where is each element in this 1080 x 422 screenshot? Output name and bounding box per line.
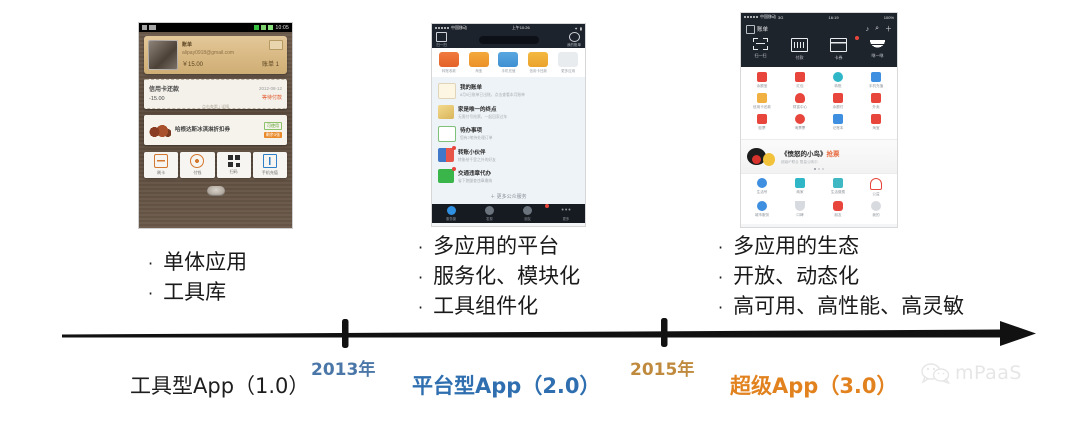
stage-3-caption: 超级App（3.0） — [730, 370, 898, 400]
p2-tab-label-2: 朋友 — [524, 216, 531, 221]
battery-icon — [268, 25, 273, 30]
p2-quick-label-1: 淘宝 — [475, 69, 482, 74]
phone-screenshot-v3: 中国移动 3G 16:19 100% 账单 ♪ ⌕ ＋ 扫一扫 付款 卡券 — [740, 12, 898, 228]
p3-bottom-r1c0[interactable]: 生活号 — [743, 178, 781, 197]
p1-tile-label-2: 扫码 — [230, 169, 238, 175]
p3-app-r3c2[interactable]: 记账本 — [819, 114, 857, 131]
p2-item-text-4: 交通违章代办 省下跑腿查违章缴纳 — [458, 169, 492, 184]
signal-dots-icon — [435, 27, 449, 29]
p3-app-label-r2c0: 信用卡还款 — [753, 105, 771, 110]
p3-banner-subtitle: 超级IP联合 限量公映中 — [781, 160, 840, 165]
p3-app-r2c0[interactable]: 信用卡还款 — [743, 93, 781, 110]
p2-quick-1[interactable]: 淘宝 — [464, 52, 494, 74]
p3-quick-label-1: 付款 — [796, 55, 804, 61]
timeline-axis — [0, 308, 1080, 358]
p1-user-name: 账单 — [182, 41, 283, 48]
p2-quick-3[interactable]: 信用卡还款 — [523, 52, 553, 74]
wechat-bubbles-icon — [920, 362, 950, 384]
p3-bottom-label-r1c3: 公益 — [872, 192, 879, 197]
bill-pay-icon — [833, 178, 843, 188]
credit-card-icon — [528, 52, 548, 67]
p3-bottom-r2c2[interactable]: 朋友 — [819, 201, 857, 218]
p3-banner-dots — [814, 168, 824, 170]
p3-bottom-label-r2c2: 朋友 — [834, 213, 841, 218]
p3-app-r2c2[interactable]: 余额付 — [819, 93, 857, 110]
p1-user-email: alipay0918@gmail.com — [182, 50, 283, 56]
ice-cream-icon — [149, 120, 171, 140]
p1-coupon-title: 哈根达斯冰淇淋折扣券 — [175, 126, 260, 134]
stock-icon — [757, 114, 767, 124]
p3-status-time: 16:19 — [829, 15, 839, 20]
friends-icon — [523, 206, 532, 215]
wealth-icon — [795, 93, 805, 103]
p1-status-left-icons — [142, 25, 156, 30]
p3-nav-bar: 账单 ♪ ⌕ ＋ — [741, 21, 897, 37]
list-item[interactable]: 待办事项 您有2笔待处理订单 — [436, 123, 581, 145]
p3-app-label-r3c0: 股票 — [758, 126, 765, 131]
bill-icon — [569, 32, 580, 42]
p3-quick-2[interactable]: 卡券 — [819, 38, 858, 61]
p1-ticket-amount: -15.00 — [149, 96, 165, 102]
p3-quick-row: 扫一扫 付款 卡券 咻一咻 — [741, 37, 897, 67]
p3-quick-label-2: 卡券 — [835, 55, 843, 61]
p1-ticket-amount-row: -15.00 等待付款 — [149, 93, 282, 102]
p2-item-sub-3: 转账给千里之外的好友 — [458, 158, 496, 163]
p3-quick-0[interactable]: 扫一扫 — [741, 38, 780, 61]
p2-item-title-2: 待办事项 — [460, 126, 493, 134]
p2-tab-label-3: 更多 — [563, 216, 570, 221]
p2-item-sub-0: 8月5日账单已出账，点击查看本月账单 — [460, 93, 525, 98]
bluetooth-icon: ✦ — [574, 26, 577, 31]
charity-heart-icon — [870, 178, 882, 190]
koubei-icon — [795, 201, 805, 211]
bill-thumb-icon — [438, 83, 456, 99]
p3-app-r1c1[interactable]: 红包 — [781, 72, 819, 89]
p1-home-button — [144, 185, 287, 197]
profile-icon — [871, 201, 881, 211]
p1-status-bar: 10:05 — [139, 23, 292, 32]
p1-ticket-action: 等待付款 — [262, 94, 282, 101]
list-item: · 开放、动态化 — [718, 262, 964, 292]
bullet-text: 多应用的平台 — [433, 232, 559, 262]
p3-status-left: 中国移动 3G — [744, 14, 783, 20]
p1-ticket-footer: 点击查看 / 详情 — [149, 104, 282, 110]
timeline-year-label-2013: 2013年 — [311, 355, 375, 380]
p3-promo-banner[interactable]: 《愤怒的小鸟》抢票 超级IP联合 限量公映中 — [741, 139, 897, 174]
p1-status-time: 10:05 — [275, 25, 289, 31]
p2-tab-0[interactable]: 服务窗 — [432, 206, 470, 221]
p2-item-text-3: 转账小伙伴 转账给千里之外的好友 — [458, 148, 496, 163]
p2-carrier: 中国移动 — [451, 25, 467, 31]
p3-app-r1c3[interactable]: 手机充值 — [857, 72, 895, 89]
timeline-tick-2013 — [342, 319, 349, 348]
city-service-icon — [757, 201, 767, 211]
battery-icon: ▮ — [580, 26, 582, 31]
p3-bottom-r1c1[interactable]: 商家 — [781, 178, 819, 197]
p3-network: 3G — [778, 15, 783, 20]
list-item: · 单体应用 — [148, 248, 247, 278]
bullet-marker: · — [148, 256, 153, 272]
timeline-arrowhead — [1000, 321, 1036, 346]
movie-ticket-icon — [795, 114, 805, 124]
p2-quick-4[interactable]: 更多应用 — [553, 52, 583, 74]
p2-tab-label-1: 发现 — [486, 216, 493, 221]
p3-quick-1[interactable]: 付款 — [780, 38, 819, 61]
p3-grid-row-1: 余额宝 红包 转账 手机充值 — [743, 72, 895, 89]
p3-app-r2c1[interactable]: 财富中心 — [781, 93, 819, 110]
p2-nav-right-label: 我的账单 — [567, 43, 581, 48]
badge-dot — [452, 146, 456, 150]
stage-1-bullets: · 单体应用 · 工具库 — [148, 248, 247, 308]
p2-item-title-1: 家是唯一的终点 — [458, 105, 507, 113]
p2-quick-label-3: 信用卡还款 — [530, 69, 548, 74]
p3-banner-title: 《愤怒的小鸟》抢票 — [781, 148, 840, 158]
avatar — [148, 40, 178, 70]
p2-item-title-0: 我的账单 — [460, 83, 525, 91]
p2-tab-bar: 服务窗 发现 朋友 ••• 更多 — [432, 204, 585, 223]
p2-quick-2[interactable]: 手机充值 — [494, 52, 524, 74]
envelope-icon — [269, 40, 283, 50]
p3-grid-row-3: 股票 淘票票 记账本 淘宝 — [743, 114, 895, 131]
wifi-icon — [254, 25, 259, 30]
list-item: · 工具库 — [148, 278, 247, 308]
bullet-marker: · — [418, 240, 423, 256]
transfer-icon — [833, 72, 843, 82]
bullet-marker: · — [148, 286, 153, 302]
bullet-text: 工具库 — [163, 278, 226, 308]
p3-app-label-r3c3: 淘宝 — [872, 126, 879, 131]
p2-quick-row: 转账收款 淘宝 手机充值 信用卡还款 更多应用 — [432, 48, 585, 77]
yuebao-icon — [757, 72, 767, 82]
p2-status-bar: 中国移动 上午10:26 ✦ ▮ — [432, 24, 585, 32]
p1-bill-ticket: 信用卡还款 2012-08-12 -15.00 等待付款 点击查看 / 详情 — [144, 79, 287, 109]
merchant-icon — [795, 178, 805, 188]
p1-ticket-date: 2012-08-12 — [259, 86, 282, 91]
p2-nav-scan[interactable]: 扫一扫 — [436, 32, 447, 48]
taobao-icon — [469, 52, 489, 67]
list-item[interactable]: 转账小伙伴 转账给千里之外的好友 — [436, 145, 581, 166]
p3-app-label-r1c2: 转账 — [834, 84, 841, 89]
stage-2-caption: 平台型App（2.0） — [412, 370, 601, 400]
red-packet-icon — [795, 72, 805, 82]
bullet-text: 服务化、模块化 — [433, 262, 580, 292]
p2-service-list: 我的账单 8月5日账单已出账，点击查看本月账单 家是唯一的终点 无需付号抢票，一… — [432, 77, 585, 190]
shake-icon — [870, 38, 885, 50]
timeline-year-label-2015: 2015年 — [630, 355, 694, 380]
grid-more-icon — [558, 52, 578, 67]
p3-nav-actions: ♪ ⌕ ＋ — [866, 24, 892, 34]
p3-bottom-r1c3[interactable]: 公益 — [857, 178, 895, 197]
timeline-tick-2015 — [661, 318, 668, 347]
coupon-card-icon — [830, 38, 847, 52]
p3-bottom-r2c1[interactable]: 口碑 — [781, 201, 819, 218]
p3-app-label-r1c1: 红包 — [796, 84, 803, 89]
p3-bottom-row-2: 城市服务 口碑 朋友 我的 — [743, 201, 895, 218]
p2-tab-label-0: 服务窗 — [446, 216, 456, 221]
p2-nav-bill[interactable]: 我的账单 — [567, 32, 581, 48]
p1-tile-1: 付钱 — [180, 152, 214, 178]
p3-status-battery: 100% — [884, 15, 894, 20]
more-dots-icon: ••• — [561, 206, 570, 215]
p2-nav-left-label: 扫一扫 — [436, 43, 447, 48]
badge-dot — [452, 167, 456, 171]
p2-nav-bar: 扫一扫 我的账单 — [432, 32, 585, 48]
p1-account-text: 账单 alipay0918@gmail.com ￥15.00 账单 1 — [182, 40, 283, 70]
p3-app-label-r3c2: 记账本 — [833, 126, 844, 131]
p1-count: 账单 1 — [262, 59, 279, 68]
signal-dots-icon — [744, 16, 758, 18]
p3-bottom-row-1: 生活号 商家 生活缴费 公益 — [743, 178, 895, 197]
phone-screenshot-v2: 中国移动 上午10:26 ✦ ▮ 扫一扫 我的账单 转账收款 淘宝 手机充值 — [431, 23, 586, 227]
p1-tile-label-1: 付钱 — [193, 170, 201, 176]
service-window-icon — [447, 206, 456, 215]
credit-card-icon — [757, 93, 767, 103]
traffic-thumb-icon — [438, 169, 454, 183]
list-item[interactable]: 交通违章代办 省下跑腿查违章缴纳 — [436, 166, 581, 187]
p2-quick-0[interactable]: 转账收款 — [434, 52, 464, 74]
p3-app-r1c2[interactable]: 转账 — [819, 72, 857, 89]
p2-status-left: 中国移动 — [435, 25, 467, 31]
p1-coupon-available-badge: 可使用 — [264, 122, 282, 130]
p1-tile-label-0: 刷卡 — [157, 170, 165, 176]
bullet-marker: · — [718, 270, 723, 286]
plus-icon[interactable]: ＋ — [885, 24, 892, 34]
p2-tab-2[interactable]: 朋友 — [509, 206, 547, 221]
timeline-line — [62, 330, 1000, 338]
p3-quick-label-0: 扫一扫 — [755, 53, 767, 59]
pay-icon — [190, 154, 204, 168]
p3-quick-3[interactable]: 咻一咻 — [858, 38, 897, 61]
p2-status-time: 上午10:26 — [512, 25, 530, 31]
list-item: · 多应用的生态 — [718, 232, 964, 262]
friends-icon — [833, 201, 843, 211]
taobao-icon — [871, 114, 881, 124]
scan-icon — [154, 154, 168, 168]
search-icon[interactable]: ⌕ — [875, 25, 879, 33]
p2-item-text-0: 我的账单 8月5日账单已出账，点击查看本月账单 — [460, 83, 525, 98]
p3-bottom-grid: 生活号 商家 生活缴费 公益 城市服务 口碑 — [741, 174, 897, 224]
transfer-thumb-icon — [438, 148, 454, 162]
p2-item-sub-2: 您有2笔待处理订单 — [460, 136, 493, 141]
p1-ticket-head: 信用卡还款 2012-08-12 — [149, 84, 282, 93]
p2-quick-label-4: 更多应用 — [561, 69, 575, 74]
p3-quick-label-3: 咻一咻 — [872, 53, 884, 59]
todo-thumb-icon — [438, 126, 456, 142]
p1-body: 账单 alipay0918@gmail.com ￥15.00 账单 1 信用卡还… — [139, 32, 292, 229]
p3-bottom-label-r1c2: 生活缴费 — [831, 190, 845, 195]
p3-app-r1c0[interactable]: 余额宝 — [743, 72, 781, 89]
p1-amount: ￥15.00 — [182, 59, 203, 68]
p3-app-label-r2c3: 外卖 — [872, 105, 879, 110]
discover-icon — [485, 206, 494, 215]
p3-bottom-label-r1c0: 生活号 — [757, 190, 768, 195]
p2-tab-3[interactable]: ••• 更多 — [547, 206, 585, 221]
bullet-text: 开放、动态化 — [733, 262, 859, 292]
list-item[interactable]: 我的账单 8月5日账单已出账，点击查看本月账单 — [436, 80, 581, 102]
bullet-marker: · — [418, 270, 423, 286]
p3-app-r3c0[interactable]: 股票 — [743, 114, 781, 131]
list-item: · 多应用的平台 — [418, 232, 580, 262]
qr-code-icon — [228, 155, 240, 167]
p3-grid-row-2: 信用卡还款 财富中心 余额付 外卖 — [743, 93, 895, 110]
p3-app-grid: 余额宝 红包 转账 手机充值 信用卡还款 财富中心 — [741, 67, 897, 139]
p3-app-r3c1[interactable]: 淘票票 — [781, 114, 819, 131]
stage-1-caption: 工具型App（1.0） — [130, 370, 309, 400]
p2-item-sub-1: 无需付号抢票，一起回家过年 — [458, 115, 507, 120]
bullet-marker: · — [718, 240, 723, 256]
p2-status-right: ✦ ▮ — [574, 26, 582, 31]
bullet-text: 多应用的生态 — [733, 232, 859, 262]
p3-status-bar: 中国移动 3G 16:19 100% — [741, 13, 897, 21]
p1-quick-tiles: 刷卡 付钱 扫码 手机充值 — [144, 152, 287, 178]
p3-app-label-r3c1: 淘票票 — [795, 126, 806, 131]
p2-item-text-2: 待办事项 您有2笔待处理订单 — [460, 126, 493, 141]
p3-bottom-r2c3[interactable]: 我的 — [857, 201, 895, 218]
p2-quick-label-0: 转账收款 — [442, 69, 456, 74]
p3-app-r3c3[interactable]: 淘宝 — [857, 114, 895, 131]
p3-app-r2c3[interactable]: 外卖 — [857, 93, 895, 110]
p1-coupon-card: 哈根达斯冰淇淋折扣券 可使用 剩余3张 — [144, 115, 287, 145]
life-account-icon — [757, 178, 767, 188]
p3-banner-text: 《愤怒的小鸟》抢票 超级IP联合 限量公映中 — [781, 148, 840, 165]
p3-bottom-label-r1c1: 商家 — [796, 190, 803, 195]
scan-icon — [753, 38, 768, 50]
p2-item-text-1: 家是唯一的终点 无需付号抢票，一起回家过年 — [458, 105, 507, 120]
pay-code-icon — [791, 38, 808, 52]
scan-nav-icon[interactable] — [746, 25, 755, 34]
list-item: · 服务化、模块化 — [418, 262, 580, 292]
bullet-text: 单体应用 — [163, 248, 247, 278]
balance-pay-icon — [833, 93, 843, 103]
p1-coupon-count-badge: 剩余3张 — [264, 132, 282, 138]
p2-item-title-3: 转账小伙伴 — [458, 148, 496, 156]
p1-amount-row: ￥15.00 账单 1 — [182, 59, 283, 68]
recharge-icon — [498, 52, 518, 67]
signal-icon — [261, 25, 266, 30]
p1-tile-2: 扫码 — [217, 152, 251, 178]
p3-app-label-r2c1: 财富中心 — [793, 105, 807, 110]
transfer-icon — [439, 52, 459, 67]
scan-icon — [436, 32, 447, 42]
p3-bottom-label-r2c1: 口碑 — [796, 213, 803, 218]
p3-bottom-label-r2c3: 我的 — [872, 213, 879, 218]
p3-nav-title: 账单 — [757, 25, 768, 33]
p2-tab-1[interactable]: 发现 — [470, 206, 508, 221]
search-input[interactable] — [479, 36, 539, 44]
p1-account-card: 账单 alipay0918@gmail.com ￥15.00 账单 1 — [144, 36, 287, 74]
p1-ticket-title: 信用卡还款 — [149, 84, 179, 93]
p3-app-label-r2c2: 余额付 — [833, 105, 844, 110]
p3-bottom-r1c2[interactable]: 生活缴费 — [819, 178, 857, 197]
phone-screenshot-v1: 10:05 账单 alipay0918@gmail.com ￥15.00 账单 … — [138, 22, 293, 229]
p1-tile-0: 刷卡 — [144, 152, 178, 178]
angry-birds-icon — [747, 145, 777, 169]
p2-more-services-link[interactable]: ＋ 更多公众服务 — [432, 190, 585, 204]
p3-bottom-r2c0[interactable]: 城市服务 — [743, 201, 781, 218]
p3-nav-title-group: 账单 — [746, 25, 768, 34]
list-item[interactable]: 家是唯一的终点 无需付号抢票，一起回家过年 — [436, 102, 581, 123]
p1-status-right-icons: 10:05 — [241, 25, 289, 30]
p3-bottom-label-r2c0: 城市服务 — [755, 213, 769, 218]
p3-app-label-r1c3: 手机充值 — [869, 84, 883, 89]
p1-tile-3: 手机充值 — [253, 152, 287, 178]
p1-tile-label-3: 手机充值 — [262, 170, 278, 176]
ledger-icon — [833, 114, 843, 124]
p1-coupon-badges: 可使用 剩余3张 — [264, 122, 282, 138]
p3-app-label-r1c0: 余额宝 — [757, 84, 768, 89]
p2-quick-label-2: 手机充值 — [501, 69, 515, 74]
takeout-icon — [871, 93, 881, 103]
train-thumb-icon — [438, 105, 454, 119]
mpaas-watermark: mPaaS — [920, 362, 1022, 384]
phone-recharge-icon — [263, 154, 277, 168]
p3-banner-highlight: 抢票 — [827, 151, 840, 158]
watermark-text: mPaaS — [955, 362, 1022, 384]
p2-item-sub-4: 省下跑腿查违章缴纳 — [458, 179, 492, 184]
voice-icon[interactable]: ♪ — [866, 26, 870, 33]
p2-item-title-4: 交通违章代办 — [458, 169, 492, 177]
recharge-icon — [871, 72, 881, 82]
p3-carrier: 中国移动 — [760, 14, 776, 20]
